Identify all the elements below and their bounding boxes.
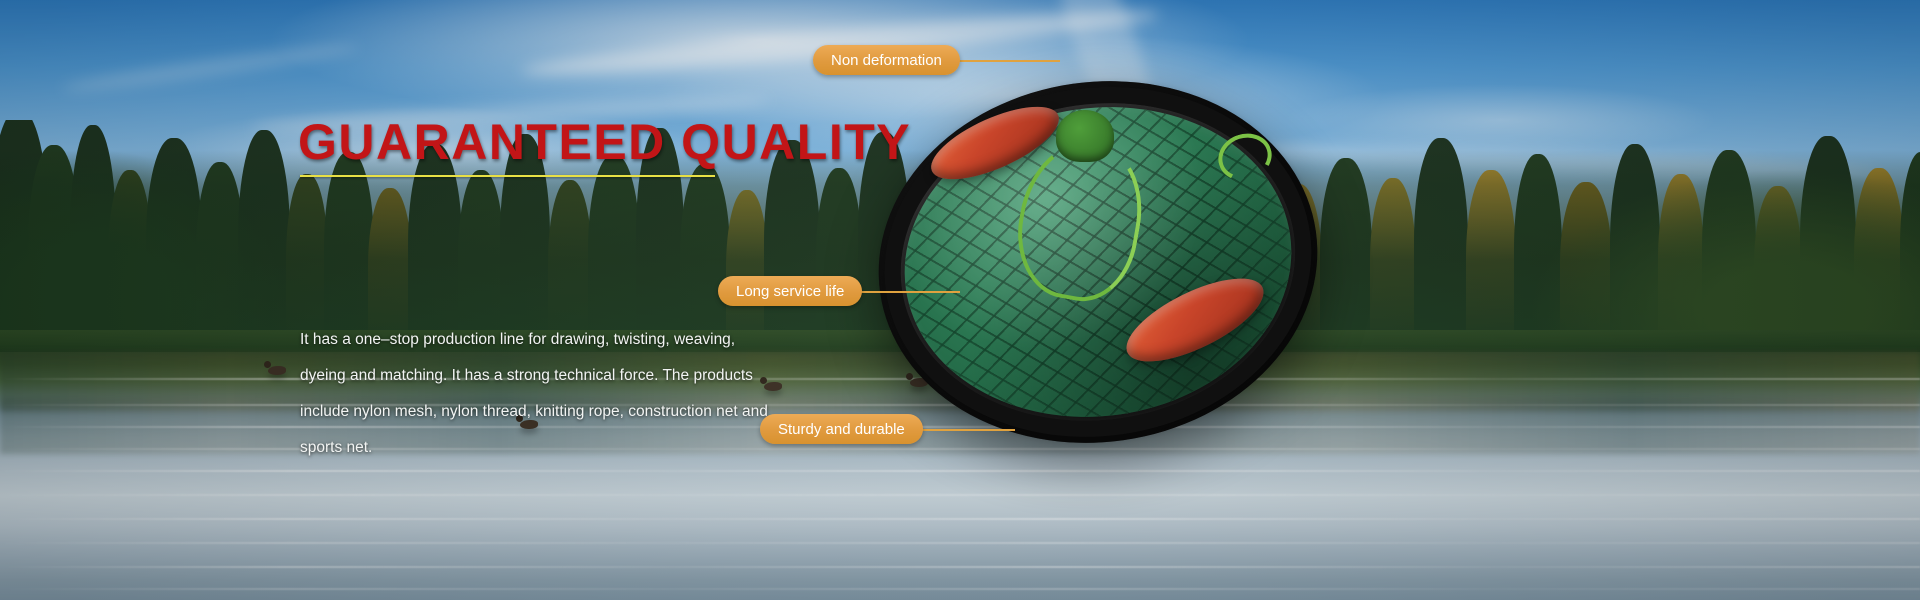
forest-mass-left (0, 70, 340, 370)
feature-badge-long-service-life: Long service life (718, 276, 862, 306)
title-underline (300, 175, 715, 177)
product-image-fishing-net (878, 82, 1318, 442)
feature-badge-sturdy-and-durable: Sturdy and durable (760, 414, 923, 444)
callout-connector-line (848, 291, 960, 293)
duck (268, 366, 286, 375)
feature-badge-non-deformation: Non deformation (813, 45, 960, 75)
description-paragraph: It has a one–stop production line for dr… (300, 322, 770, 466)
product-banner: GUARANTEED QUALITY It has a one–stop pro… (0, 0, 1920, 600)
page-title: GUARANTEED QUALITY (298, 113, 911, 171)
